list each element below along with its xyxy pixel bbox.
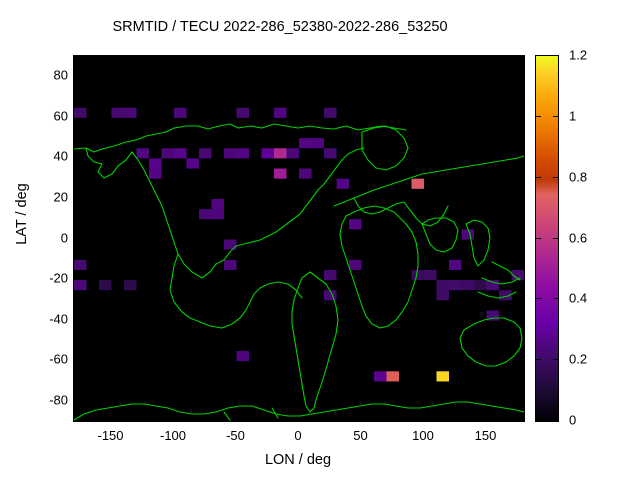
x-tick-label: -100	[143, 428, 203, 443]
heatmap-cell	[274, 169, 287, 179]
heatmap-cell	[199, 209, 212, 219]
y-tick-label: 0	[28, 230, 68, 245]
world-map-coastlines	[74, 56, 524, 421]
heatmap-cell	[74, 108, 87, 118]
colorbar-tick-label: 0.2	[569, 352, 587, 367]
heatmap-cell	[237, 148, 250, 158]
heatmap-cell	[274, 108, 287, 118]
heatmap-cell	[437, 290, 450, 300]
heatmap-cell	[324, 108, 337, 118]
colorbar-tick-mark	[553, 116, 558, 117]
heatmap-cell	[162, 148, 175, 158]
heatmap-cell	[74, 280, 87, 290]
heatmap-cell	[437, 280, 450, 290]
chart-title: SRMTID / TECU 2022-286_52380-2022-286_53…	[0, 19, 560, 35]
x-axis-ticks: -150-100-50050100150	[73, 428, 523, 448]
y-tick-label: -60	[28, 352, 68, 367]
heatmap-cell	[237, 108, 250, 118]
x-tick-label: 0	[268, 428, 328, 443]
colorbar-tick-label: 1	[569, 108, 576, 123]
x-tick-label: 150	[456, 428, 516, 443]
x-tick-label: -50	[206, 428, 266, 443]
heatmap-cell	[474, 280, 487, 290]
heatmap-cell	[149, 158, 162, 168]
heatmap-cells-group	[74, 108, 524, 382]
colorbar-ticks: 00.20.40.60.811.2	[535, 55, 625, 420]
heatmap-cell	[374, 371, 387, 381]
heatmap-cell	[99, 280, 112, 290]
heatmap-cell	[224, 148, 237, 158]
y-tick-label: 40	[28, 149, 68, 164]
y-tick-label: 20	[28, 189, 68, 204]
heatmap-cell	[462, 229, 475, 239]
heatmap-cell	[212, 199, 225, 209]
y-tick-label: -20	[28, 271, 68, 286]
heatmap-cell	[387, 371, 400, 381]
heatmap-cell	[324, 148, 337, 158]
y-tick-label: 80	[28, 68, 68, 83]
y-tick-label: -80	[28, 392, 68, 407]
colorbar-tick-label: 0.8	[569, 169, 587, 184]
colorbar-tick-mark	[536, 359, 541, 360]
y-tick-label: 60	[28, 108, 68, 123]
heatmap-cell	[424, 270, 437, 280]
heatmap-cell	[199, 148, 212, 158]
heatmap-cell	[274, 148, 287, 158]
y-tick-label: -40	[28, 311, 68, 326]
heatmap-cell	[437, 371, 450, 381]
heatmap-cell	[337, 179, 350, 189]
colorbar-tick-mark	[536, 177, 541, 178]
colorbar-tick-label: 1.2	[569, 48, 587, 63]
heatmap-cell	[149, 169, 162, 179]
heatmap-cell	[312, 138, 325, 148]
heatmap-cell	[349, 219, 362, 229]
heatmap-cell	[174, 148, 187, 158]
colorbar-tick-label: 0	[569, 413, 576, 428]
x-tick-label: -150	[81, 428, 141, 443]
heatmap-cell	[299, 138, 312, 148]
map-plot-area	[73, 55, 525, 422]
heatmap-cell	[349, 260, 362, 270]
heatmap-cell	[412, 179, 425, 189]
heatmap-cell	[449, 280, 462, 290]
heatmap-cell	[224, 260, 237, 270]
heatmap-cell	[412, 270, 425, 280]
colorbar-tick-label: 0.4	[569, 291, 587, 306]
heatmap-cell	[237, 351, 250, 361]
heatmap-cell	[299, 169, 312, 179]
colorbar-tick-mark	[536, 298, 541, 299]
y-axis-label: LAT / deg	[14, 144, 30, 284]
heatmap-cell	[124, 280, 137, 290]
colorbar-tick-mark	[536, 238, 541, 239]
heatmap-cell	[137, 148, 150, 158]
x-axis-label: LON / deg	[73, 452, 523, 468]
heatmap-cell	[462, 280, 475, 290]
colorbar-tick-mark	[553, 298, 558, 299]
colorbar-tick-mark	[553, 359, 558, 360]
x-tick-label: 50	[331, 428, 391, 443]
heatmap-cell	[124, 108, 137, 118]
heatmap-cell	[187, 158, 200, 168]
heatmap-cell	[449, 260, 462, 270]
heatmap-cell	[174, 108, 187, 118]
heatmap-cell	[112, 108, 125, 118]
heatmap-cell	[212, 209, 225, 219]
heatmap-cell	[262, 148, 275, 158]
heatmap-cell	[74, 260, 87, 270]
heatmap-cell	[287, 148, 300, 158]
colorbar-tick-mark	[536, 116, 541, 117]
colorbar-tick-mark	[553, 238, 558, 239]
x-tick-label: 100	[393, 428, 453, 443]
chart-figure: SRMTID / TECU 2022-286_52380-2022-286_53…	[0, 0, 640, 480]
colorbar-tick-mark	[553, 177, 558, 178]
colorbar-tick-label: 0.6	[569, 230, 587, 245]
heatmap-cell	[324, 270, 337, 280]
